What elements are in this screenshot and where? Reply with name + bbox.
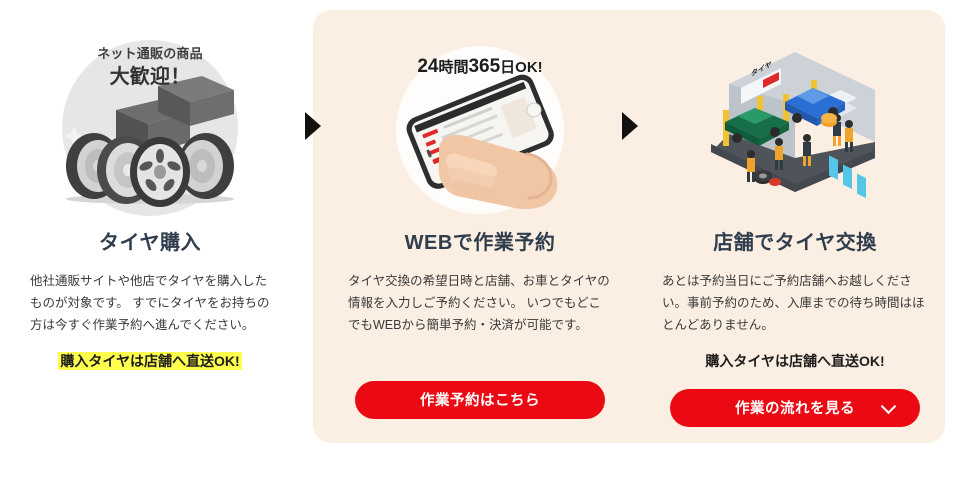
reservation-button[interactable]: 作業予約はこちら: [355, 381, 605, 419]
chevron-down-icon: [881, 398, 897, 414]
step3-note: 購入タイヤは店舗へ直送OK!: [650, 351, 940, 371]
step1-body: 他社通販サイトや他店でタイヤを購入したものが対象です。 すでにタイヤをお持ちの方…: [24, 271, 276, 337]
step2-badge-text1: 時間: [438, 59, 468, 76]
step3-title: 店舗でタイヤ交換: [650, 226, 940, 255]
step2-title: WEBで作業予約: [330, 226, 630, 255]
step1-badge: ネット通販の商品 大歓迎！: [24, 46, 276, 90]
view-workflow-button[interactable]: 作業の流れを見る: [670, 389, 920, 427]
tire-shop-isometric-icon: タイヤ: [689, 46, 901, 214]
step2-badge: 24時間365日OK!: [330, 56, 630, 78]
hand-holding-smartphone-icon: [387, 72, 573, 212]
tires-with-package-icon: [50, 68, 250, 214]
step-arrow-1-icon: [305, 112, 321, 140]
step-arrow-2-icon: [622, 112, 638, 140]
step-card-web-reservation: 24時間365日OK! WEBで作業予約 タイヤ交換の希望日時と店舗、お車とタイ…: [330, 0, 630, 479]
step1-note: 購入タイヤは店舗へ直送OK!: [24, 351, 276, 371]
step1-title: タイヤ購入: [24, 226, 276, 255]
step2-button-area: 作業予約はこちら: [330, 381, 630, 419]
reservation-button-label: 作業予約はこちら: [420, 389, 540, 410]
step2-badge-text2: 日OK!: [500, 59, 543, 76]
step1-badge-large: 大歓迎！: [24, 64, 276, 90]
step-card-store-tire-change: タイヤ: [650, 0, 940, 479]
step3-body: あとは予約当日にご予約店舗へお越しください。事前予約のため、入庫までの待ち時間は…: [650, 271, 940, 337]
step3-button-area: 作業の流れを見る: [650, 389, 940, 427]
step1-illustration-area: ネット通販の商品 大歓迎！: [24, 42, 276, 212]
step2-body: タイヤ交換の希望日時と店舗、お車とタイヤの情報を入力しご予約ください。 いつでも…: [330, 271, 630, 337]
step3-illustration-area: タイヤ: [650, 42, 940, 212]
view-workflow-button-label: 作業の流れを見る: [735, 397, 855, 418]
step2-badge-num1: 24: [417, 56, 438, 77]
step-card-tire-purchase: ネット通販の商品 大歓迎！ タイヤ購入 他社通販サイトや他店でタイヤを購入したも…: [0, 0, 300, 479]
step2-illustration-area: 24時間365日OK!: [330, 42, 630, 212]
step1-badge-small: ネット通販の商品: [97, 46, 203, 61]
step2-badge-num2: 365: [468, 56, 500, 77]
step1-note-highlight: 購入タイヤは店舗へ直送OK!: [58, 352, 241, 370]
